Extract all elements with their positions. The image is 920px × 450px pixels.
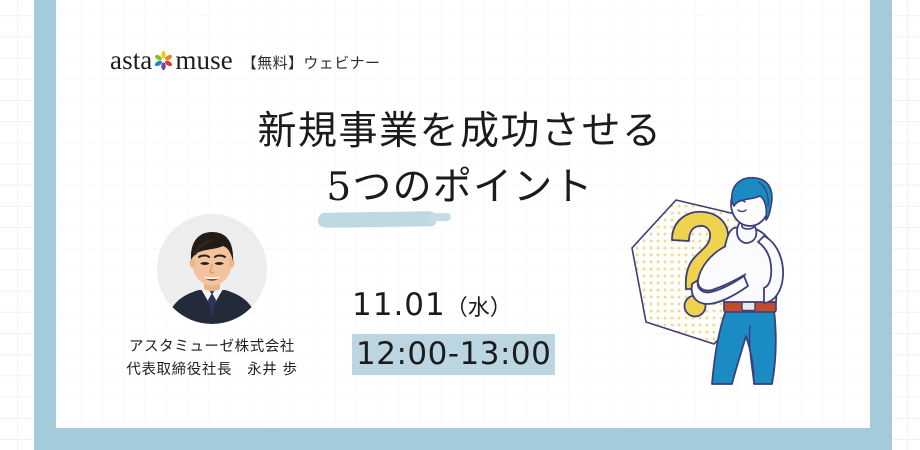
thinking-person-question-mark-illustration	[614, 176, 819, 391]
speaker-company: アスタミューゼ株式会社	[96, 336, 328, 359]
title-line-1: 新規事業を成功させる	[0, 104, 920, 160]
logo-tagline: 【無料】ウェビナー	[242, 52, 381, 73]
logo-text-asta: asta	[110, 45, 152, 76]
event-date-value: 11.01	[352, 287, 446, 323]
asta-muse-flower-mark-icon	[153, 50, 174, 71]
speaker-title-name: 代表取締役社長 永井 歩	[96, 359, 328, 382]
speaker-block: アスタミューゼ株式会社 代表取締役社長 永井 歩	[96, 214, 328, 382]
brand-logo: asta muse 【無料】ウェビナー	[110, 45, 380, 76]
title-brush-underline	[318, 211, 437, 228]
event-date: 11.01（水）	[352, 285, 555, 329]
event-time: 12:00-13:00	[352, 334, 555, 375]
avatar	[157, 214, 267, 324]
speaker-info: アスタミューゼ株式会社 代表取締役社長 永井 歩	[96, 336, 328, 382]
webinar-banner: asta muse 【無料】ウェビナー 新規事業を成功させる 5つのポイント	[0, 0, 920, 450]
event-day-of-week: （水）	[446, 296, 512, 321]
schedule-block: 11.01（水） 12:00-13:00	[352, 285, 555, 375]
logo-text-muse: muse	[175, 45, 232, 76]
